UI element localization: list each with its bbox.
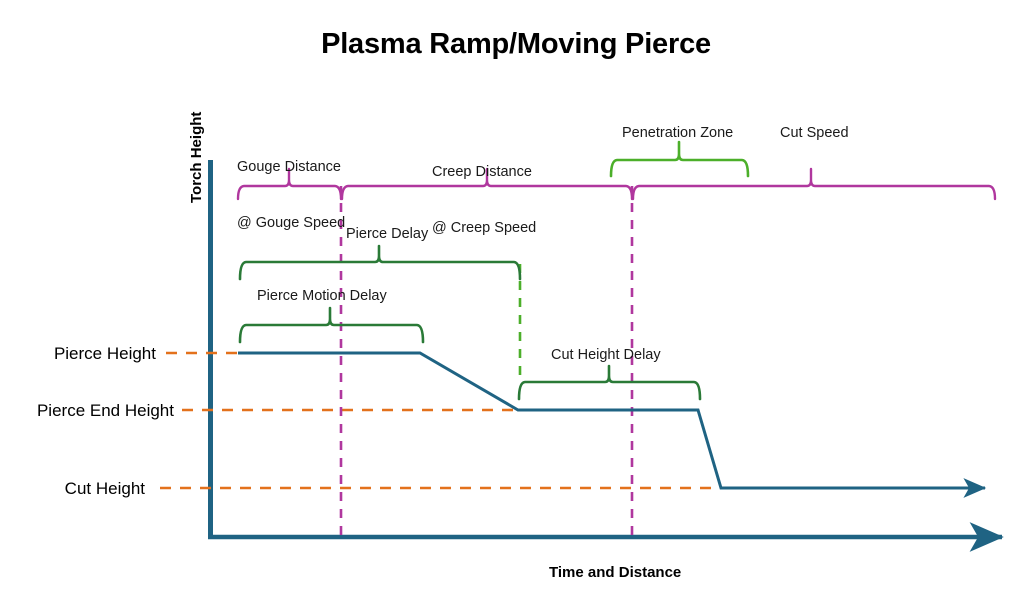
pierce-motion-delay-bracket-path — [240, 308, 423, 342]
phase-label-penetration-zone: Penetration Zone — [622, 124, 733, 143]
height-guide-lines — [160, 353, 722, 488]
delay-label-pierce-delay: Pierce Delay — [346, 225, 428, 244]
phase-bracket-magenta — [238, 169, 995, 199]
delay-label-cut-height-delay: Cut Height Delay — [551, 346, 661, 365]
torch-height-profile — [238, 353, 985, 488]
height-label-cut-height: Cut Height — [0, 478, 145, 500]
delay-label-pierce-motion-delay: Pierce Motion Delay — [257, 287, 387, 306]
phase-label-gouge-distance: Gouge Distance @ Gouge Speed — [237, 120, 345, 271]
height-label-pierce-height: Pierce Height — [0, 343, 156, 365]
cut-height-delay-bracket — [519, 366, 700, 399]
cut-speed-bracket — [633, 169, 995, 199]
diagram-canvas: Plasma Ramp/Moving Pierce Torch Height T… — [0, 0, 1032, 596]
penetration-zone-bracket-path — [611, 142, 748, 176]
y-axis-title: Torch Height — [187, 112, 207, 203]
page-title: Plasma Ramp/Moving Pierce — [0, 26, 1032, 64]
x-axis-title: Time and Distance — [549, 563, 681, 583]
gouge-distance-line2: @ Gouge Speed — [237, 214, 345, 233]
creep-distance-line2: @ Creep Speed — [432, 219, 536, 238]
pierce-motion-delay-bracket — [240, 308, 423, 342]
creep-distance-line1: Creep Distance — [432, 163, 536, 182]
penetration-zone-bracket — [611, 142, 748, 176]
plasma-ramp-chart — [0, 0, 1032, 596]
cut-height-delay-bracket-path — [519, 366, 700, 399]
height-label-pierce-end-height: Pierce End Height — [0, 400, 174, 422]
phase-label-cut-speed: Cut Speed — [780, 124, 849, 143]
phase-label-creep-distance: Creep Distance @ Creep Speed — [432, 125, 536, 276]
gouge-distance-line1: Gouge Distance — [237, 158, 345, 177]
torch-height-line — [238, 353, 985, 488]
